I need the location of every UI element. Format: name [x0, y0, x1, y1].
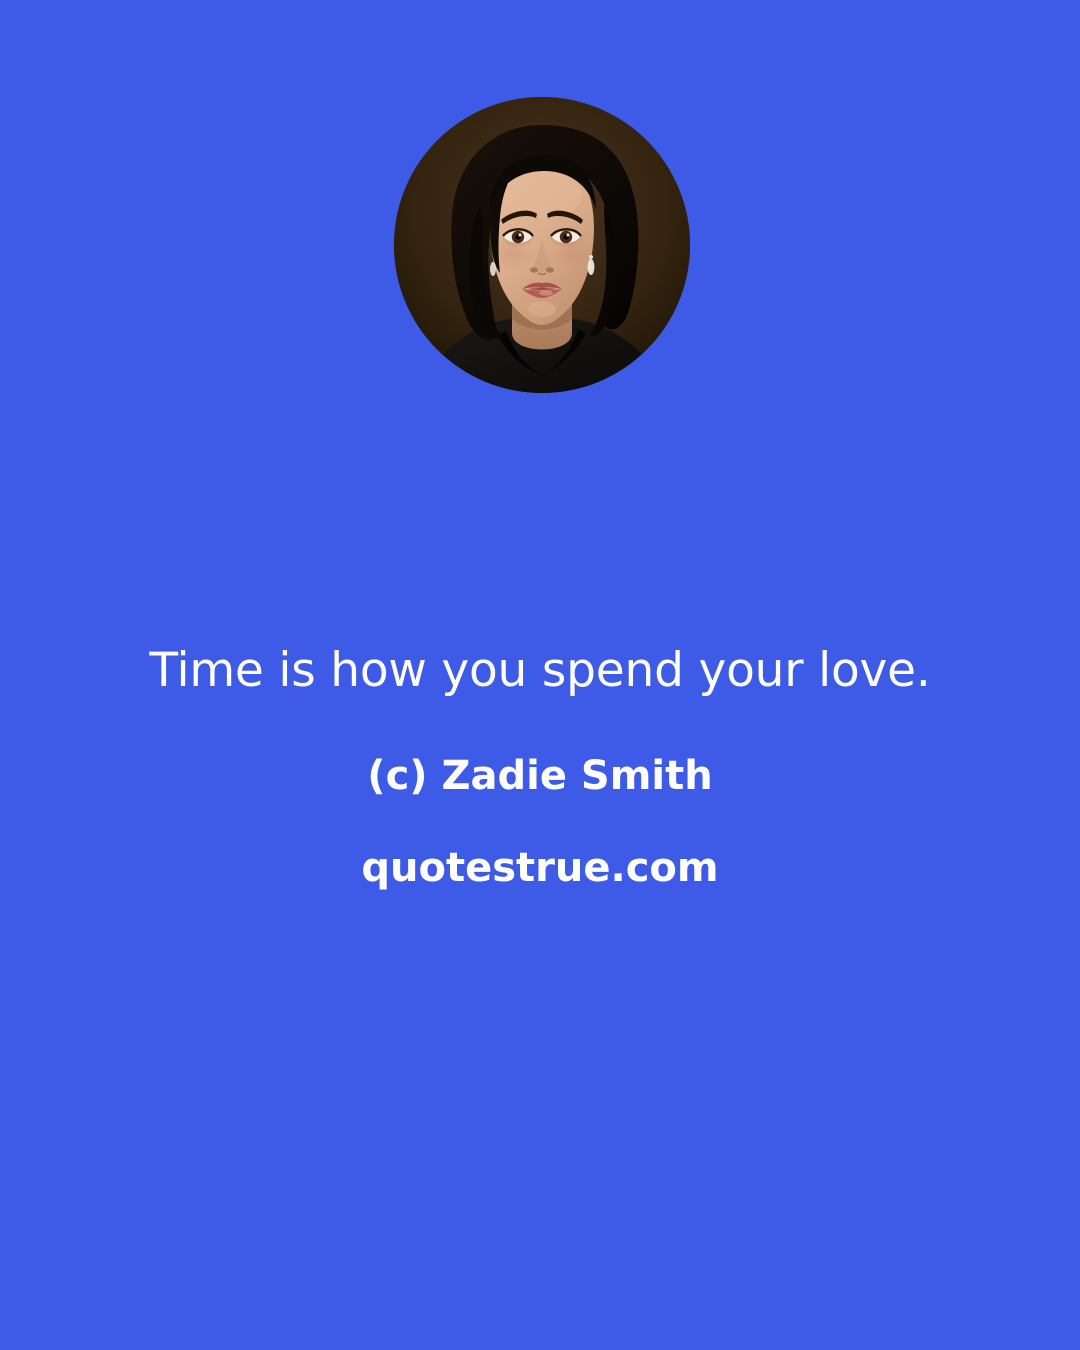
portrait-image [394, 97, 690, 393]
quote-author: (c) Zadie Smith [0, 750, 1080, 802]
quote-text: Time is how you spend your love. [0, 640, 1080, 702]
source-website: quotestrue.com [0, 842, 1080, 894]
quote-card: Time is how you spend your love. (c) Zad… [0, 0, 1080, 1350]
quote-text-block: Time is how you spend your love. (c) Zad… [0, 640, 1080, 894]
zadie-smith-portrait [394, 97, 690, 393]
